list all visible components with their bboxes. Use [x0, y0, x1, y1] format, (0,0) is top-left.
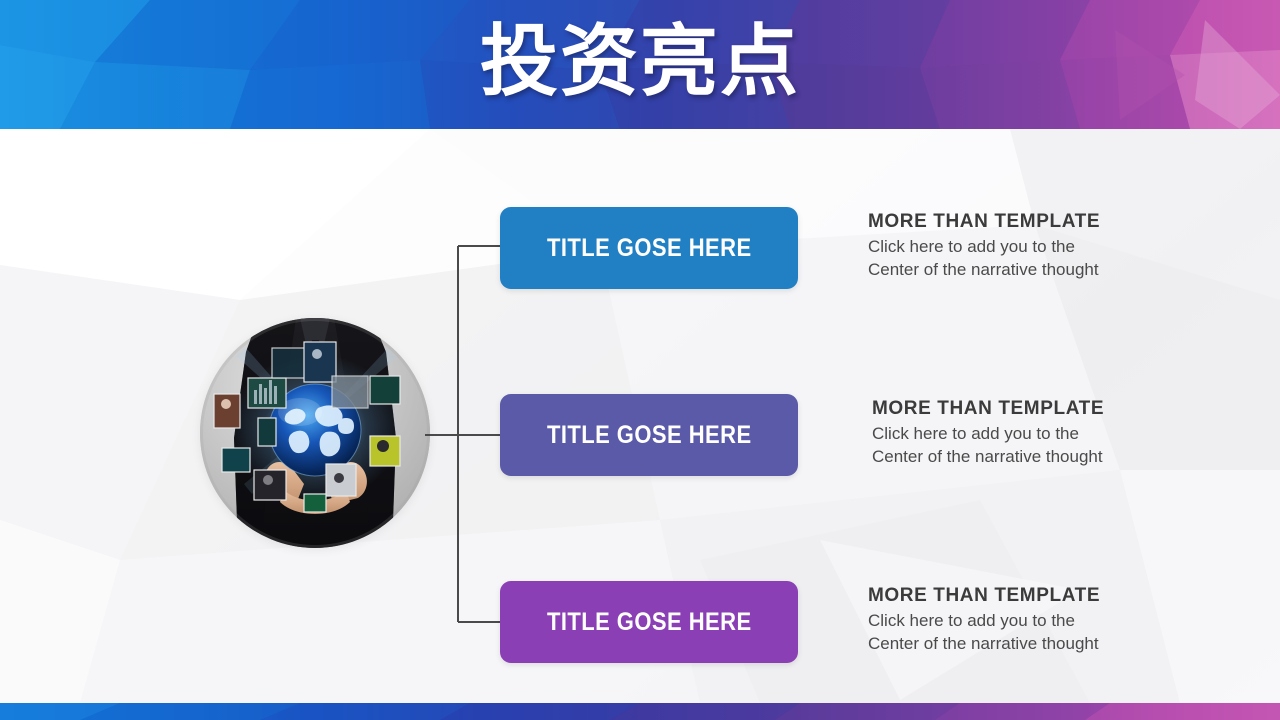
text-block-line1-1: Click here to add you to the: [868, 235, 1198, 258]
footer-polygon-texture: [0, 703, 1280, 720]
text-block-line1-2: Click here to add you to the: [872, 422, 1202, 445]
title-pill-2[interactable]: TITLE GOSE HERE: [500, 394, 798, 476]
slide-header: 投资亮点: [0, 0, 1280, 129]
text-block-heading-3: MORE THAN TEMPLATE: [868, 585, 1198, 607]
text-block-3: MORE THAN TEMPLATE Click here to add you…: [868, 585, 1198, 655]
title-pill-label-3: TITLE GOSE HERE: [547, 608, 752, 637]
globe-in-hands-image: [200, 318, 430, 548]
text-block-line2-2: Center of the narrative thought: [872, 445, 1202, 468]
circular-photo: [200, 318, 430, 548]
text-block-2: MORE THAN TEMPLATE Click here to add you…: [872, 398, 1202, 468]
text-block-heading-2: MORE THAN TEMPLATE: [872, 398, 1202, 420]
slide: 投资亮点: [0, 0, 1280, 720]
title-pill-1[interactable]: TITLE GOSE HERE: [500, 207, 798, 289]
text-block-1: MORE THAN TEMPLATE Click here to add you…: [868, 211, 1198, 281]
title-pill-label-1: TITLE GOSE HERE: [547, 234, 752, 263]
footer-accent-bar: [0, 703, 1280, 720]
text-block-heading-1: MORE THAN TEMPLATE: [868, 211, 1198, 233]
title-pill-3[interactable]: TITLE GOSE HERE: [500, 581, 798, 663]
text-block-line2-3: Center of the narrative thought: [868, 632, 1198, 655]
slide-title: 投资亮点: [0, 12, 1280, 112]
title-pill-label-2: TITLE GOSE HERE: [547, 421, 752, 450]
text-block-line1-3: Click here to add you to the: [868, 609, 1198, 632]
text-block-line2-1: Center of the narrative thought: [868, 258, 1198, 281]
